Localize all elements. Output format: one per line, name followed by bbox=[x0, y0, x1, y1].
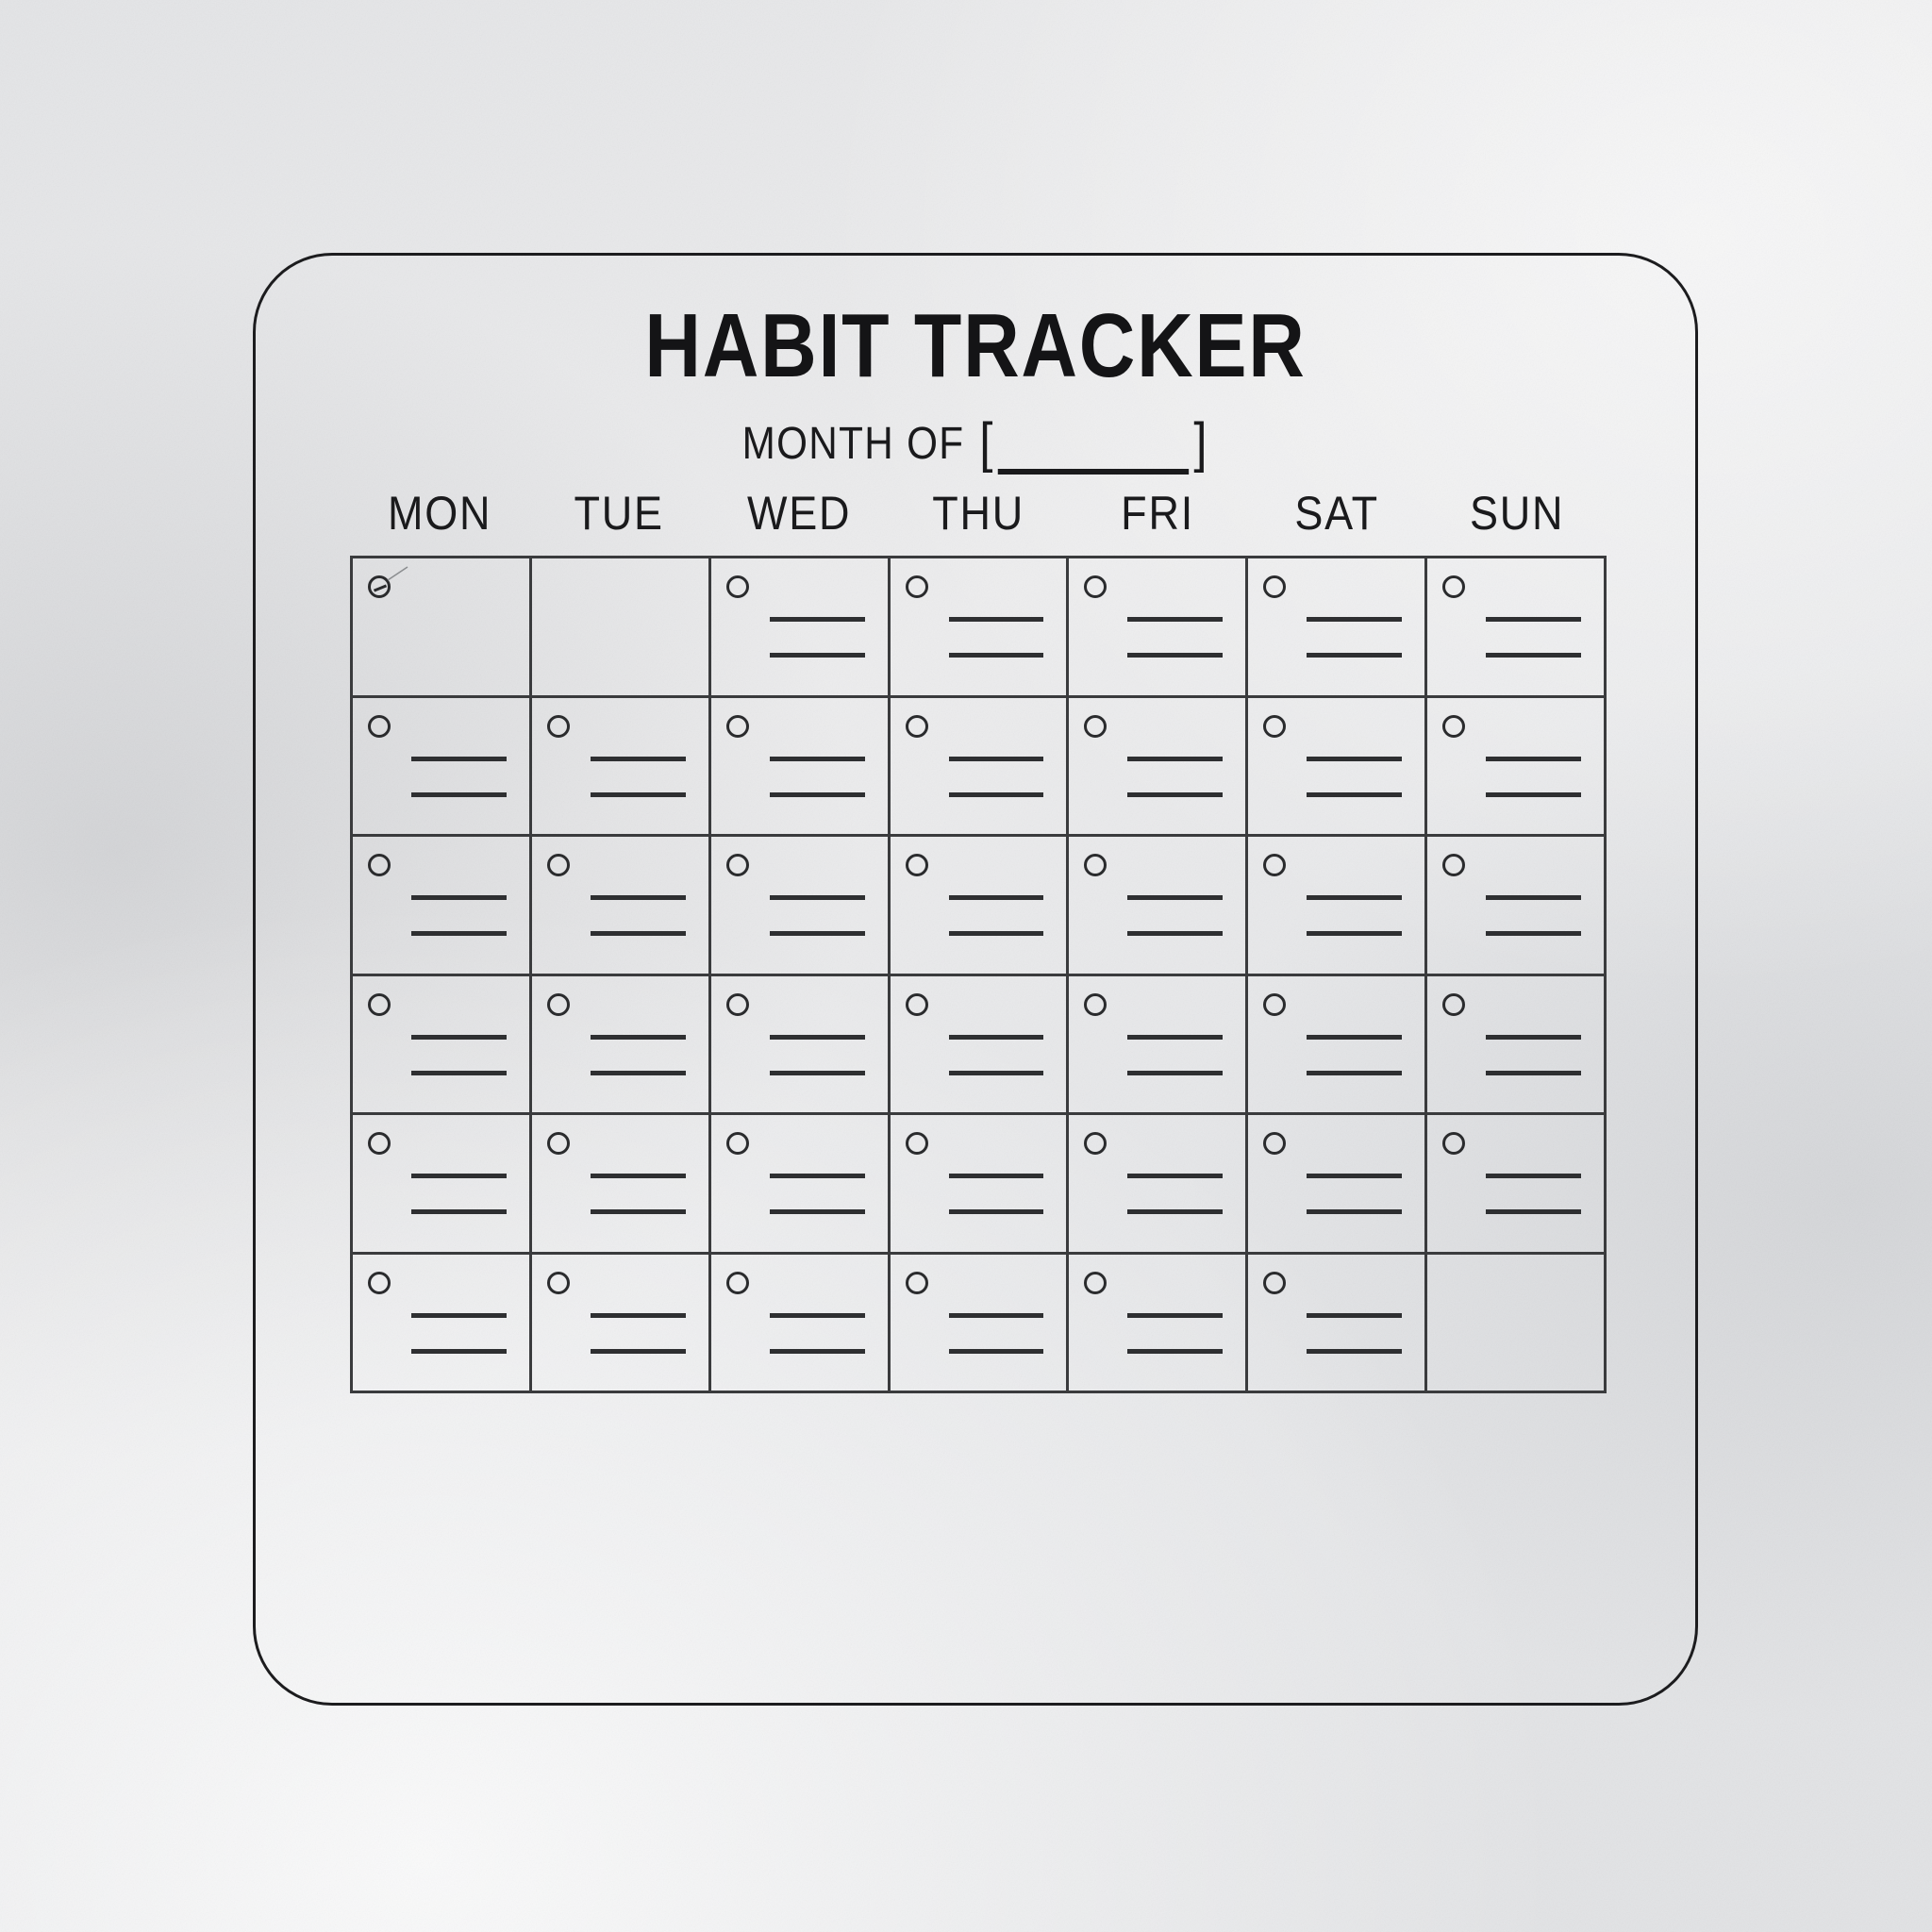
day-cell-r4-sun[interactable] bbox=[1427, 976, 1607, 1116]
day-cell-r2-sat[interactable] bbox=[1248, 698, 1427, 838]
day-cell-r1-sun[interactable] bbox=[1427, 558, 1607, 698]
day-cell-r1-sat[interactable] bbox=[1248, 558, 1427, 698]
habit-write-line-2[interactable] bbox=[1307, 653, 1402, 658]
habit-write-line-1[interactable] bbox=[770, 1313, 865, 1318]
habit-write-line-1[interactable] bbox=[1307, 1313, 1402, 1318]
day-cell-r5-sat[interactable] bbox=[1248, 1115, 1427, 1255]
day-cell-r5-tue[interactable] bbox=[532, 1115, 711, 1255]
habit-write-line-1[interactable] bbox=[1127, 617, 1223, 622]
habit-write-line-2[interactable] bbox=[1307, 1071, 1402, 1075]
habit-write-line-2[interactable] bbox=[1486, 792, 1581, 797]
weekday-label-wed: WED bbox=[718, 486, 879, 541]
habit-circle-icon[interactable] bbox=[1442, 854, 1465, 876]
day-cell-r4-tue[interactable] bbox=[532, 976, 711, 1116]
habit-write-line-1[interactable] bbox=[1127, 757, 1223, 761]
habit-write-line-1[interactable] bbox=[1486, 1174, 1581, 1178]
habit-circle-icon[interactable] bbox=[1084, 854, 1107, 876]
habit-circle-icon[interactable] bbox=[726, 854, 749, 876]
title-block: HABIT TRACKER MONTH OF [ ] bbox=[256, 301, 1695, 471]
habit-circle-icon[interactable] bbox=[547, 715, 570, 738]
weekday-label-sat: SAT bbox=[1257, 486, 1418, 541]
day-cell-r1-fri[interactable] bbox=[1069, 558, 1248, 698]
habit-write-line-2[interactable] bbox=[411, 931, 507, 936]
habit-write-line-2[interactable] bbox=[949, 1071, 1044, 1075]
pen-stroke-mark-icon bbox=[387, 566, 411, 581]
day-cell-r3-wed[interactable] bbox=[711, 837, 891, 976]
bracket-close: ] bbox=[1192, 416, 1209, 471]
habit-write-line-2[interactable] bbox=[591, 792, 686, 797]
habit-write-line-1[interactable] bbox=[411, 1313, 507, 1318]
habit-write-line-2[interactable] bbox=[770, 792, 865, 797]
habit-write-line-1[interactable] bbox=[770, 1174, 865, 1178]
weekday-label-tue: TUE bbox=[539, 486, 700, 541]
habit-write-line-1[interactable] bbox=[411, 1035, 507, 1040]
habit-write-line-1[interactable] bbox=[770, 757, 865, 761]
habit-circle-icon[interactable] bbox=[547, 854, 570, 876]
day-cell-r1-wed[interactable] bbox=[711, 558, 891, 698]
day-cell-r2-mon[interactable] bbox=[353, 698, 532, 838]
habit-circle-icon[interactable] bbox=[726, 1272, 749, 1294]
habit-write-line-2[interactable] bbox=[770, 653, 865, 658]
day-cell-r6-fri[interactable] bbox=[1069, 1255, 1248, 1394]
day-cell-r1-mon[interactable] bbox=[353, 558, 532, 698]
habit-write-line-2[interactable] bbox=[591, 1071, 686, 1075]
day-cell-r6-sun[interactable] bbox=[1427, 1255, 1607, 1394]
habit-write-line-1[interactable] bbox=[1486, 617, 1581, 622]
habit-circle-icon[interactable] bbox=[1084, 715, 1107, 738]
habit-circle-icon[interactable] bbox=[547, 993, 570, 1016]
day-cell-r4-sat[interactable] bbox=[1248, 976, 1427, 1116]
day-cell-r6-wed[interactable] bbox=[711, 1255, 891, 1394]
habit-circle-icon[interactable] bbox=[906, 1132, 928, 1155]
habit-write-line-1[interactable] bbox=[591, 1035, 686, 1040]
day-cell-r2-thu[interactable] bbox=[891, 698, 1070, 838]
habit-circle-icon[interactable] bbox=[1442, 715, 1465, 738]
habit-write-line-2[interactable] bbox=[949, 931, 1044, 936]
day-cell-r3-tue[interactable] bbox=[532, 837, 711, 976]
habit-write-line-2[interactable] bbox=[770, 931, 865, 936]
day-cell-r4-wed[interactable] bbox=[711, 976, 891, 1116]
weekday-header-row: MONTUEWEDTHUFRISATSUN bbox=[350, 486, 1607, 541]
habit-write-line-1[interactable] bbox=[1307, 757, 1402, 761]
habit-circle-icon[interactable] bbox=[368, 854, 391, 876]
habit-write-line-2[interactable] bbox=[949, 1209, 1044, 1214]
day-cell-r5-thu[interactable] bbox=[891, 1115, 1070, 1255]
habit-write-line-1[interactable] bbox=[1127, 895, 1223, 900]
day-cell-r4-mon[interactable] bbox=[353, 976, 532, 1116]
habit-write-line-2[interactable] bbox=[1486, 1209, 1581, 1214]
habit-circle-icon[interactable] bbox=[726, 575, 749, 598]
day-cell-r1-tue[interactable] bbox=[532, 558, 711, 698]
habit-write-line-2[interactable] bbox=[591, 931, 686, 936]
bracket-open: [ bbox=[978, 416, 995, 471]
day-cell-r5-sun[interactable] bbox=[1427, 1115, 1607, 1255]
habit-circle-icon[interactable] bbox=[726, 993, 749, 1016]
day-cell-r3-fri[interactable] bbox=[1069, 837, 1248, 976]
habit-circle-icon[interactable] bbox=[1084, 1272, 1107, 1294]
habit-write-line-2[interactable] bbox=[591, 1349, 686, 1354]
habit-write-line-1[interactable] bbox=[1486, 895, 1581, 900]
habit-write-line-1[interactable] bbox=[949, 1174, 1044, 1178]
day-cell-r2-sun[interactable] bbox=[1427, 698, 1607, 838]
habit-write-line-1[interactable] bbox=[949, 1035, 1044, 1040]
habit-write-line-2[interactable] bbox=[1307, 1349, 1402, 1354]
day-cell-r4-thu[interactable] bbox=[891, 976, 1070, 1116]
habit-write-line-1[interactable] bbox=[411, 895, 507, 900]
habit-write-line-1[interactable] bbox=[591, 895, 686, 900]
habit-circle-icon[interactable] bbox=[1263, 993, 1286, 1016]
day-cell-r3-sat[interactable] bbox=[1248, 837, 1427, 976]
habit-circle-icon[interactable] bbox=[906, 1272, 928, 1294]
day-cell-r6-mon[interactable] bbox=[353, 1255, 532, 1394]
day-cell-r5-mon[interactable] bbox=[353, 1115, 532, 1255]
day-cell-r3-sun[interactable] bbox=[1427, 837, 1607, 976]
month-input-blank[interactable] bbox=[998, 431, 1189, 475]
habit-write-line-1[interactable] bbox=[1127, 1035, 1223, 1040]
habit-circle-icon[interactable] bbox=[1084, 993, 1107, 1016]
habit-circle-icon[interactable] bbox=[906, 854, 928, 876]
habit-circle-icon[interactable] bbox=[726, 715, 749, 738]
habit-circle-icon[interactable] bbox=[1442, 993, 1465, 1016]
habit-write-line-1[interactable] bbox=[1307, 1174, 1402, 1178]
habit-write-line-1[interactable] bbox=[1307, 1035, 1402, 1040]
weekday-label-fri: FRI bbox=[1077, 486, 1239, 541]
habit-write-line-1[interactable] bbox=[770, 617, 865, 622]
habit-write-line-2[interactable] bbox=[591, 1209, 686, 1214]
habit-circle-icon[interactable] bbox=[1263, 715, 1286, 738]
habit-circle-icon[interactable] bbox=[368, 1272, 391, 1294]
habit-circle-icon[interactable] bbox=[1084, 1132, 1107, 1155]
weekday-label-mon: MON bbox=[359, 486, 521, 541]
page-title: HABIT TRACKER bbox=[357, 301, 1594, 391]
habit-circle-icon[interactable] bbox=[726, 1132, 749, 1155]
habit-write-line-1[interactable] bbox=[591, 1174, 686, 1178]
habit-write-line-2[interactable] bbox=[1127, 1349, 1223, 1354]
habit-tracker-grid bbox=[350, 556, 1607, 1393]
habit-write-line-2[interactable] bbox=[770, 1349, 865, 1354]
habit-write-line-1[interactable] bbox=[949, 1313, 1044, 1318]
habit-write-line-1[interactable] bbox=[949, 895, 1044, 900]
habit-write-line-1[interactable] bbox=[949, 757, 1044, 761]
habit-write-line-2[interactable] bbox=[949, 1349, 1044, 1354]
weekday-label-sun: SUN bbox=[1436, 486, 1597, 541]
habit-circle-icon[interactable] bbox=[547, 1272, 570, 1294]
habit-write-line-1[interactable] bbox=[949, 617, 1044, 622]
day-cell-r2-fri[interactable] bbox=[1069, 698, 1248, 838]
habit-write-line-2[interactable] bbox=[949, 792, 1044, 797]
habit-write-line-2[interactable] bbox=[1127, 1071, 1223, 1075]
habit-write-line-2[interactable] bbox=[411, 1071, 507, 1075]
habit-circle-icon[interactable] bbox=[368, 1132, 391, 1155]
habit-write-line-1[interactable] bbox=[1307, 617, 1402, 622]
day-cell-r6-sat[interactable] bbox=[1248, 1255, 1427, 1394]
habit-write-line-2[interactable] bbox=[1307, 931, 1402, 936]
habit-write-line-1[interactable] bbox=[591, 757, 686, 761]
day-cell-r6-tue[interactable] bbox=[532, 1255, 711, 1394]
habit-write-line-2[interactable] bbox=[411, 792, 507, 797]
day-cell-r2-tue[interactable] bbox=[532, 698, 711, 838]
habit-write-line-1[interactable] bbox=[770, 1035, 865, 1040]
habit-write-line-2[interactable] bbox=[770, 1071, 865, 1075]
habit-write-line-1[interactable] bbox=[1307, 895, 1402, 900]
habit-circle-icon[interactable] bbox=[368, 715, 391, 738]
day-cell-r3-thu[interactable] bbox=[891, 837, 1070, 976]
habit-circle-icon[interactable] bbox=[1442, 1132, 1465, 1155]
weekday-label-thu: THU bbox=[897, 486, 1058, 541]
habit-write-line-1[interactable] bbox=[591, 1313, 686, 1318]
habit-circle-icon[interactable] bbox=[547, 1132, 570, 1155]
habit-circle-icon[interactable] bbox=[1263, 575, 1286, 598]
habit-write-line-2[interactable] bbox=[1127, 931, 1223, 936]
day-cell-r4-fri[interactable] bbox=[1069, 976, 1248, 1116]
habit-checked-circle-icon[interactable] bbox=[368, 575, 391, 598]
habit-write-line-2[interactable] bbox=[770, 1209, 865, 1214]
day-cell-r6-thu[interactable] bbox=[891, 1255, 1070, 1394]
habit-circle-icon[interactable] bbox=[906, 715, 928, 738]
habit-write-line-1[interactable] bbox=[411, 757, 507, 761]
habit-write-line-1[interactable] bbox=[411, 1174, 507, 1178]
habit-write-line-2[interactable] bbox=[1307, 792, 1402, 797]
habit-write-line-1[interactable] bbox=[1127, 1313, 1223, 1318]
habit-write-line-2[interactable] bbox=[1486, 653, 1581, 658]
tracker-card: HABIT TRACKER MONTH OF [ ] MONTUEWEDTHUF… bbox=[253, 253, 1698, 1706]
day-cell-r5-fri[interactable] bbox=[1069, 1115, 1248, 1255]
habit-circle-icon[interactable] bbox=[1442, 575, 1465, 598]
habit-circle-icon[interactable] bbox=[1263, 1132, 1286, 1155]
day-cell-r2-wed[interactable] bbox=[711, 698, 891, 838]
habit-write-line-2[interactable] bbox=[1307, 1209, 1402, 1214]
habit-circle-icon[interactable] bbox=[1084, 575, 1107, 598]
habit-circle-icon[interactable] bbox=[906, 575, 928, 598]
day-cell-r5-wed[interactable] bbox=[711, 1115, 891, 1255]
habit-write-line-1[interactable] bbox=[1127, 1174, 1223, 1178]
habit-write-line-2[interactable] bbox=[411, 1349, 507, 1354]
month-of-row: MONTH OF [ ] bbox=[342, 416, 1609, 471]
day-cell-r1-thu[interactable] bbox=[891, 558, 1070, 698]
day-cell-r3-mon[interactable] bbox=[353, 837, 532, 976]
habit-circle-icon[interactable] bbox=[906, 993, 928, 1016]
habit-write-line-2[interactable] bbox=[1127, 1209, 1223, 1214]
habit-circle-icon[interactable] bbox=[1263, 854, 1286, 876]
habit-write-line-2[interactable] bbox=[1127, 653, 1223, 658]
habit-write-line-2[interactable] bbox=[1486, 931, 1581, 936]
habit-write-line-1[interactable] bbox=[1486, 757, 1581, 761]
habit-write-line-2[interactable] bbox=[1127, 792, 1223, 797]
habit-write-line-2[interactable] bbox=[411, 1209, 507, 1214]
month-of-label: MONTH OF bbox=[742, 418, 965, 470]
habit-circle-icon[interactable] bbox=[1263, 1272, 1286, 1294]
habit-write-line-2[interactable] bbox=[949, 653, 1044, 658]
habit-write-line-1[interactable] bbox=[770, 895, 865, 900]
habit-circle-icon[interactable] bbox=[368, 993, 391, 1016]
habit-write-line-1[interactable] bbox=[1486, 1035, 1581, 1040]
habit-write-line-2[interactable] bbox=[1486, 1071, 1581, 1075]
